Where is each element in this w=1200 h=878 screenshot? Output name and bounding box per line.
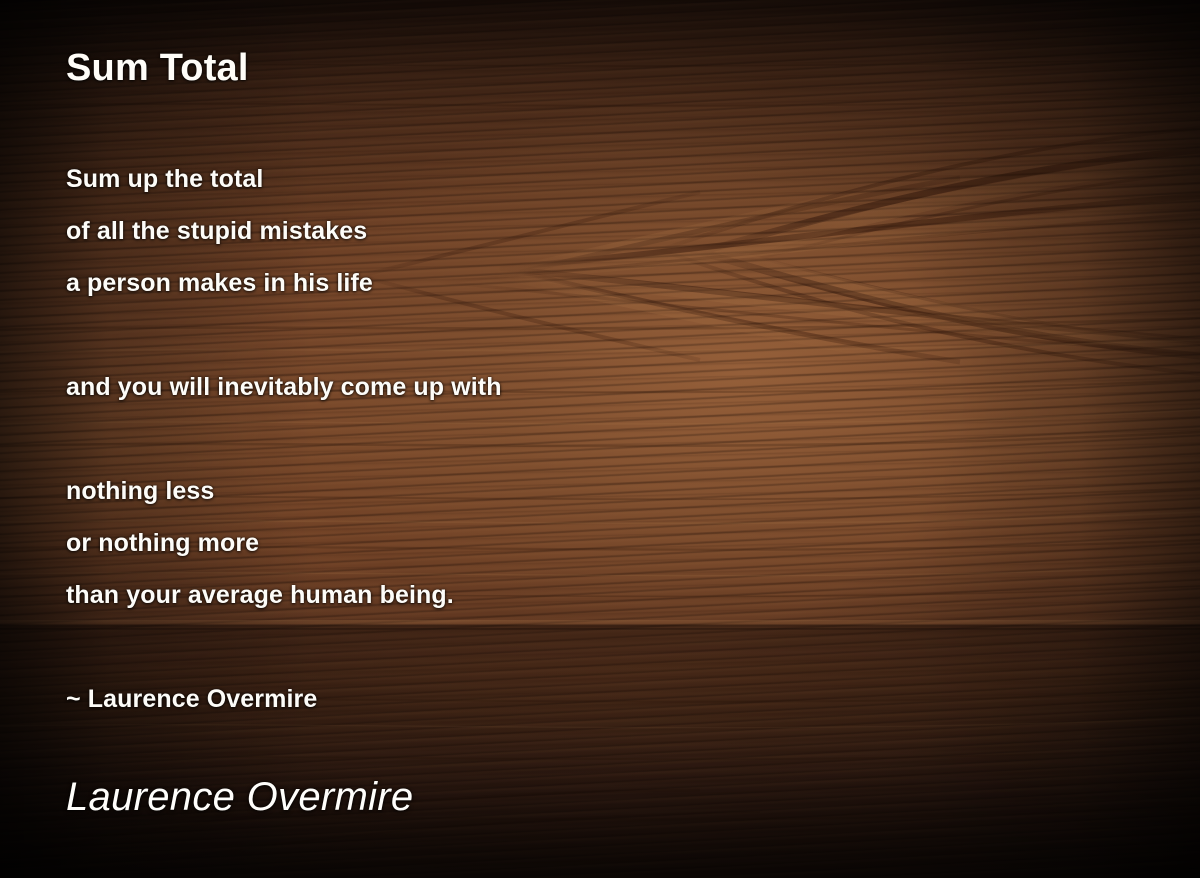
poem-line: Sum up the total xyxy=(66,153,1126,205)
author-signature: Laurence Overmire xyxy=(66,775,413,820)
poem-line: or nothing more xyxy=(66,517,1126,569)
poem-content: Sum Total Sum up the total of all the st… xyxy=(0,0,1200,878)
page-title: Sum Total xyxy=(66,47,249,90)
poem-image-card: Sum Total Sum up the total of all the st… xyxy=(0,0,1200,878)
poem-attribution: ~ Laurence Overmire xyxy=(66,673,1126,725)
poem-line: than your average human being. xyxy=(66,569,1126,621)
poem-line: and you will inevitably come up with xyxy=(66,361,1126,413)
poem-line: of all the stupid mistakes xyxy=(66,205,1126,257)
poem-line-blank xyxy=(66,621,1126,673)
poem-line: a person makes in his life xyxy=(66,257,1126,309)
poem-line: nothing less xyxy=(66,465,1126,517)
poem-line-blank xyxy=(66,309,1126,361)
poem-line-blank xyxy=(66,413,1126,465)
poem-body: Sum up the total of all the stupid mista… xyxy=(66,153,1126,725)
